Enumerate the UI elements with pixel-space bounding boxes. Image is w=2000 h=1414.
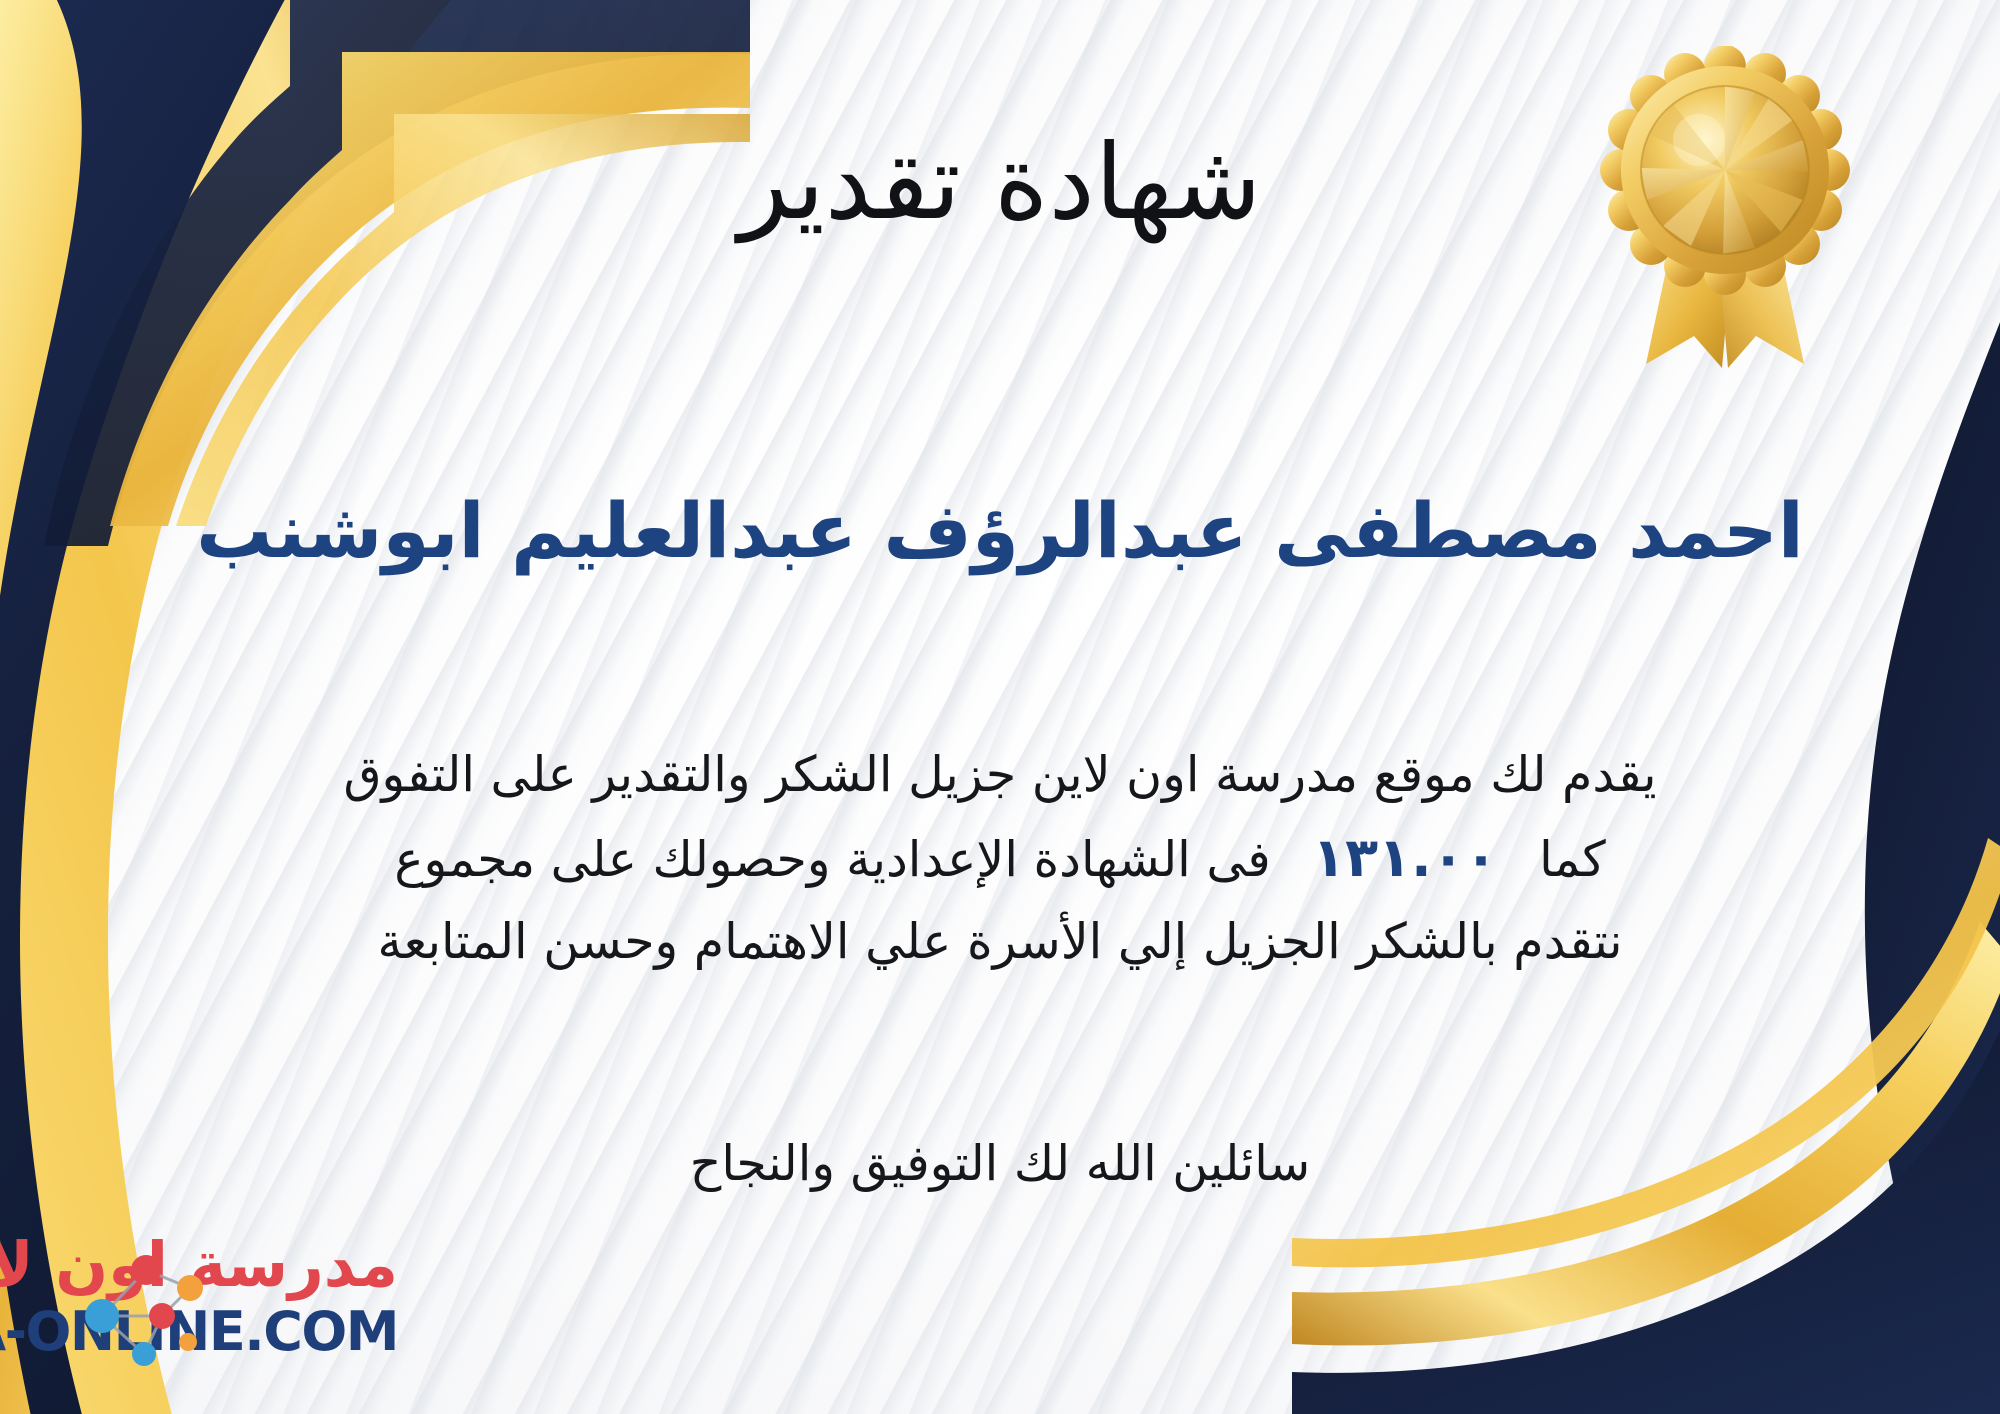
body-line-2: كما ١٣١.٠٠ فى الشهادة الإعدادية وحصولك ع… — [170, 814, 1830, 901]
certificate-body: يقدم لك موقع مدرسة اون لاين جزيل الشكر و… — [170, 735, 1830, 981]
body-line-2-before-grade: فى الشهادة الإعدادية وحصولك على مجموع — [394, 831, 1270, 888]
certificate-canvas: شهادة تقدير احمد مصطفى عبدالرؤف عبدالعلي… — [0, 0, 2000, 1414]
body-line-2-after-grade: كما — [1539, 831, 1606, 888]
closing-line: سائلين الله لك التوفيق والنجاح — [0, 1135, 2000, 1192]
certificate-content: شهادة تقدير احمد مصطفى عبدالرؤف عبدالعلي… — [0, 0, 2000, 1414]
page-title: شهادة تقدير — [0, 128, 2000, 237]
network-nodes-icon — [40, 1230, 216, 1370]
body-line-1: يقدم لك موقع مدرسة اون لاين جزيل الشكر و… — [170, 735, 1830, 814]
brand-logo[interactable]: مدرسة اون لاين MADRSA-ONLINE.COM — [34, 1220, 594, 1390]
recipient-name: احمد مصطفى عبدالرؤف عبدالعليم ابوشنب — [0, 488, 2000, 573]
grade-value: ١٣١.٠٠ — [1286, 826, 1523, 889]
body-line-3: نتقدم بالشكر الجزيل إلي الأسرة علي الاهت… — [170, 902, 1830, 981]
